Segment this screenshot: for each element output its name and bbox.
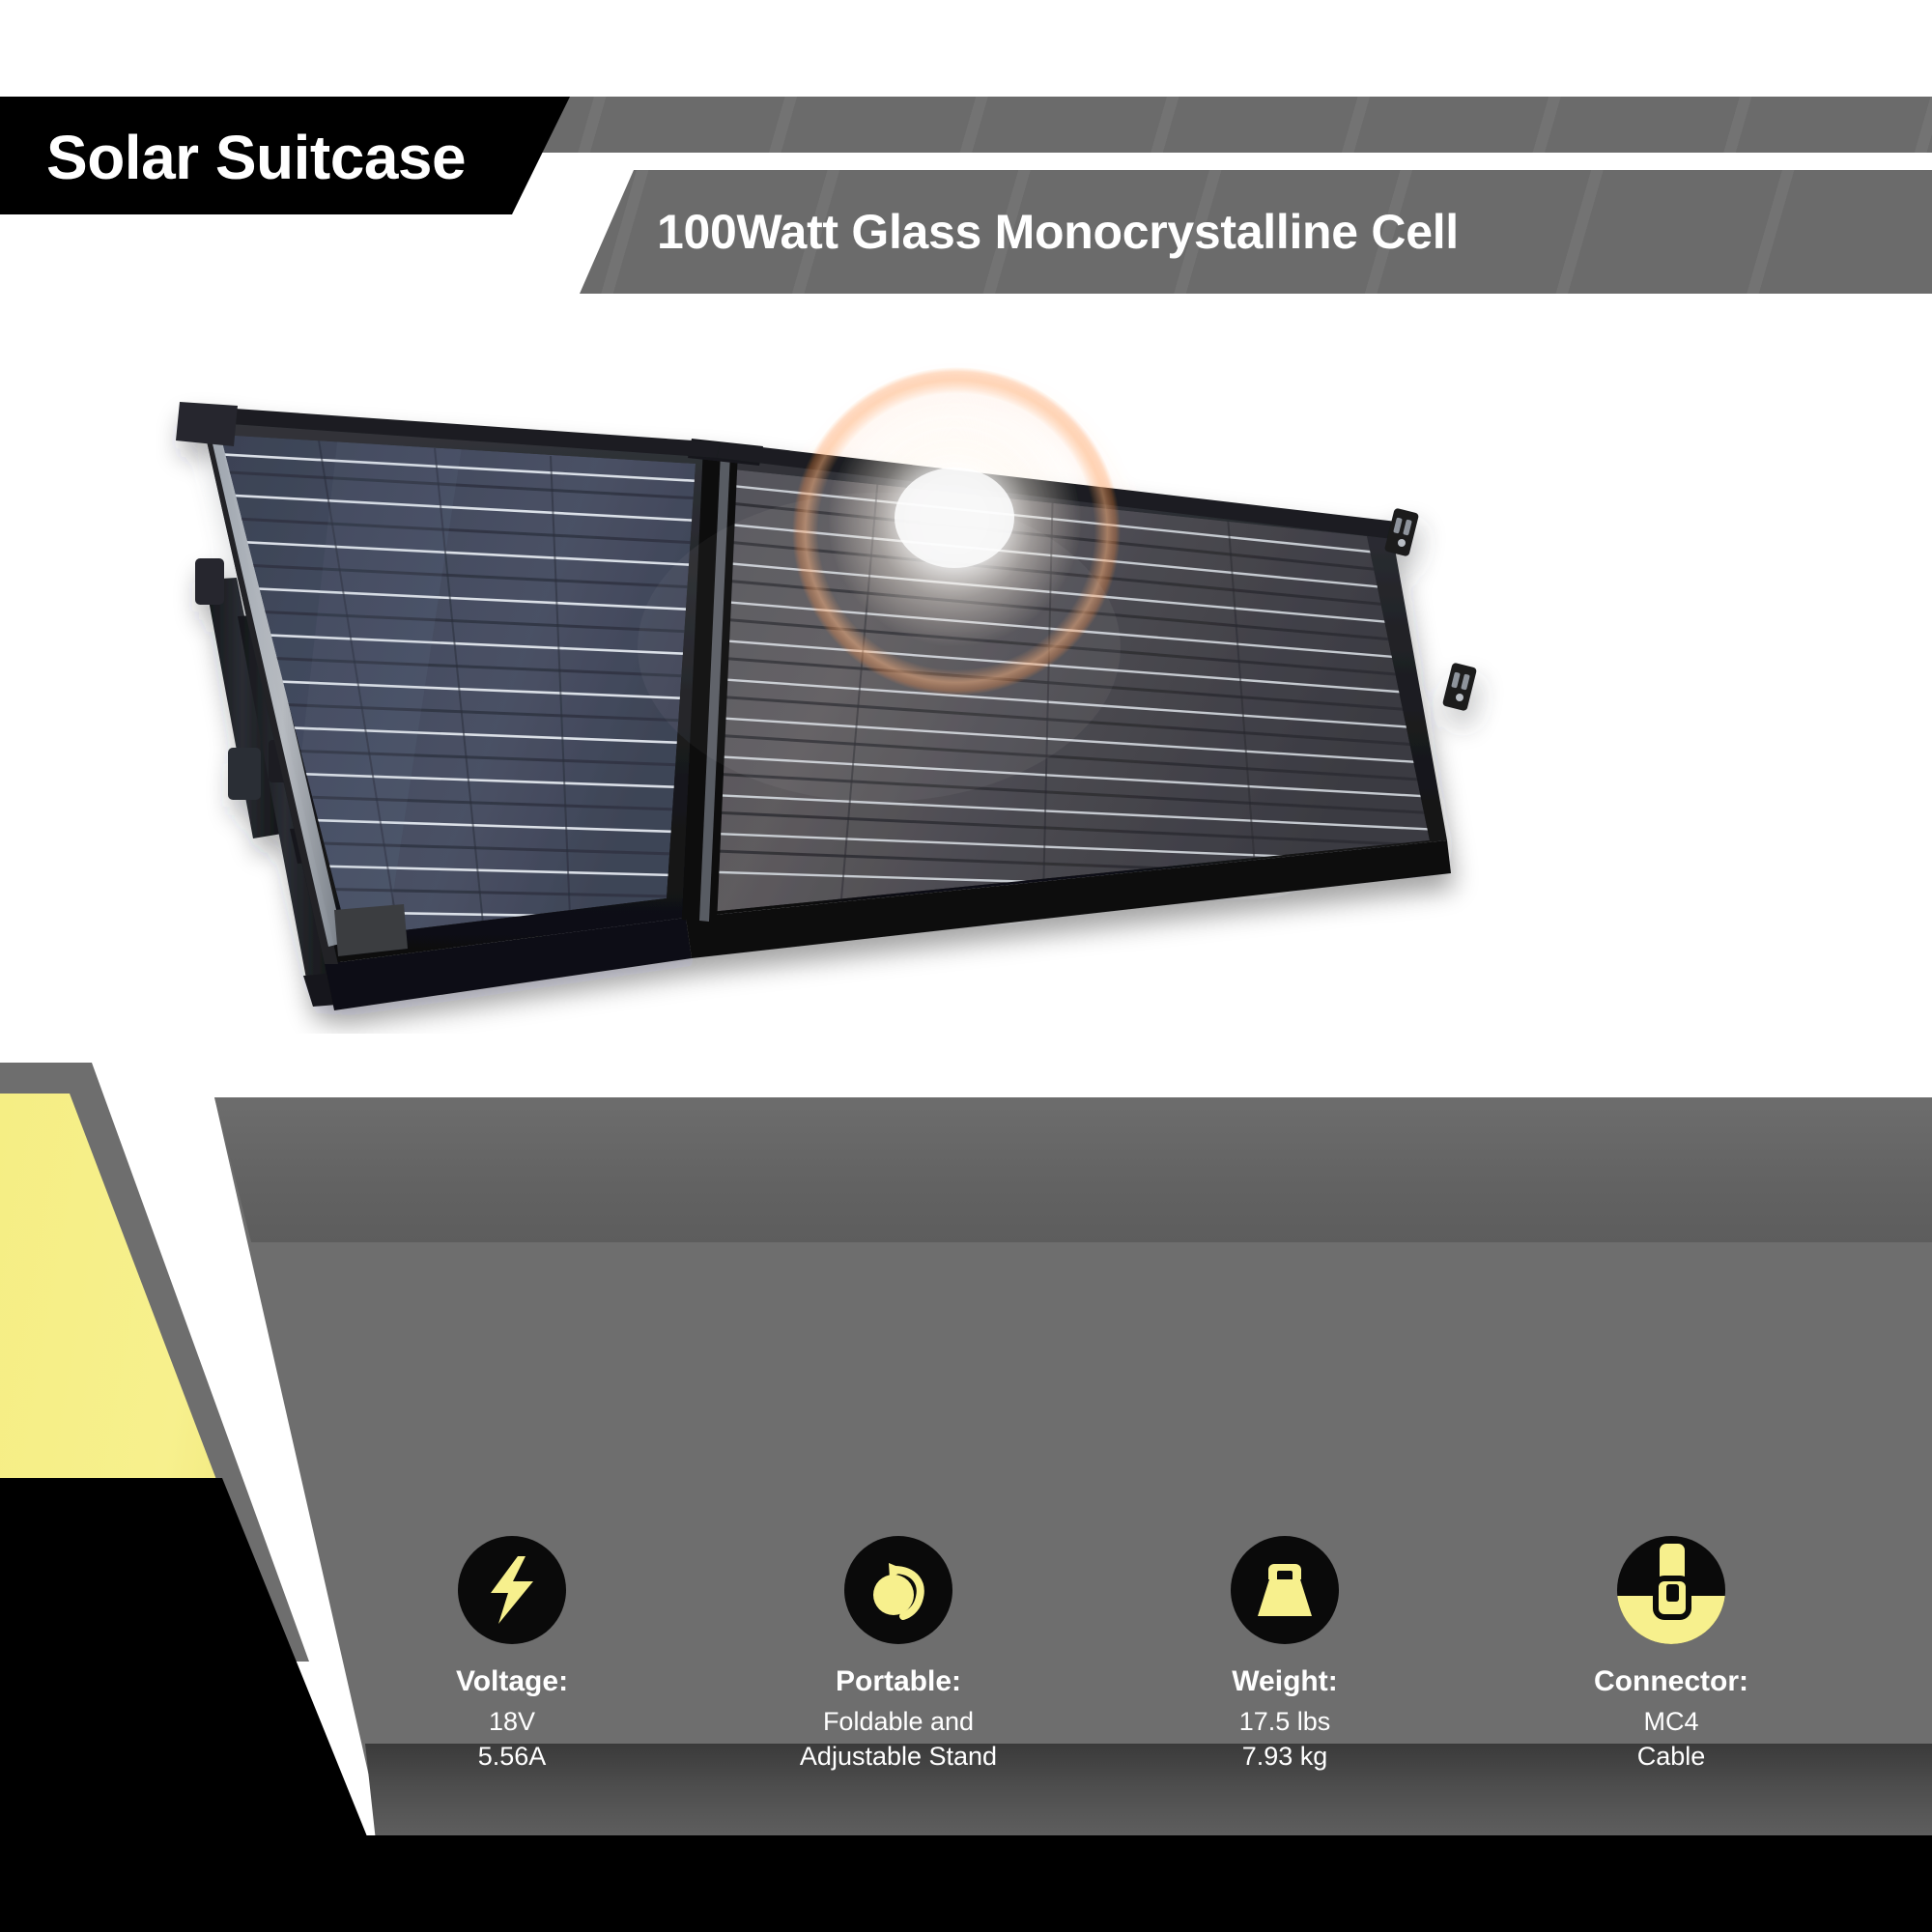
- feature-label: Voltage:: [456, 1665, 568, 1697]
- footer-black-bar: [0, 1835, 1932, 1932]
- page-subtitle: 100Watt Glass Monocrystalline Cell: [657, 172, 1932, 292]
- product-image-solar-suitcase: [145, 357, 1517, 1034]
- feature-value-line2: Adjustable Stand: [800, 1740, 997, 1775]
- feature-value-line1: MC4: [1643, 1705, 1698, 1740]
- spec-panel-top-shade: [0, 1097, 1932, 1242]
- header-banner: Solar Suitcase 100Watt Glass Monocrystal…: [0, 0, 1932, 251]
- weight-icon: [1231, 1536, 1339, 1644]
- sun-glare-flare: [638, 367, 1121, 802]
- feature-label: Portable:: [836, 1665, 961, 1697]
- infographic-canvas: Solar Suitcase 100Watt Glass Monocrystal…: [0, 0, 1932, 1932]
- rotate-arrow-icon: [844, 1536, 952, 1644]
- feature-label: Connector:: [1594, 1665, 1748, 1697]
- stand-hinge-lower: [228, 748, 261, 800]
- latch-upper: [1384, 508, 1419, 557]
- feature-item-voltage: Voltage: 18V 5.56A: [319, 1536, 705, 1797]
- feature-value-line2: Cable: [1637, 1740, 1706, 1775]
- stand-hinge-upper: [195, 558, 224, 605]
- plug-connector-icon: [1617, 1536, 1725, 1644]
- feature-item-portable: Portable: Foldable and Adjustable Stand: [705, 1536, 1092, 1797]
- bottom-left-bracket: [334, 904, 408, 956]
- feature-spec-row: Voltage: 18V 5.56A Portable: Foldable an…: [319, 1536, 1864, 1797]
- feature-item-weight: Weight: 17.5 lbs 7.93 kg: [1092, 1536, 1478, 1797]
- latch-lower: [1442, 663, 1477, 712]
- feature-item-connector: Connector: MC4 Cable: [1478, 1536, 1864, 1797]
- feature-value-line1: 17.5 lbs: [1239, 1705, 1331, 1740]
- feature-value-line2: 5.56A: [478, 1740, 547, 1775]
- feature-label: Weight:: [1232, 1665, 1337, 1697]
- header-gray-top-strip: [537, 97, 1932, 153]
- left-panel-corner-bracket: [176, 402, 238, 446]
- lightning-bolt-icon: [458, 1536, 566, 1644]
- feature-value-line1: 18V: [489, 1705, 535, 1740]
- page-title: Solar Suitcase: [46, 104, 549, 211]
- feature-value-line2: 7.93 kg: [1242, 1740, 1328, 1775]
- feature-value-line1: Foldable and: [823, 1705, 974, 1740]
